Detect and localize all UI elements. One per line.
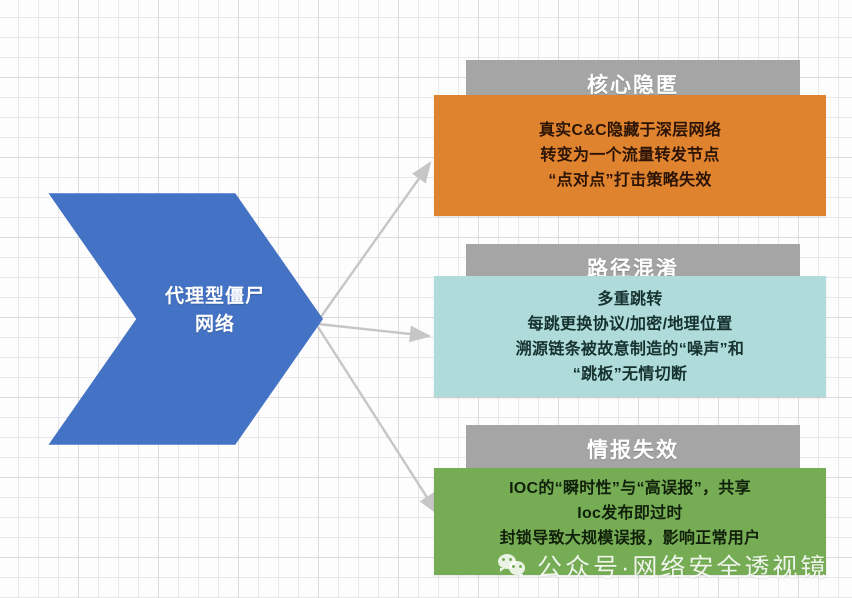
card-path-line-4: “跳板”无情切断 [573,362,687,387]
card-core-line-2: 转变为一个流量转发节点 [540,143,719,168]
wechat-icon [498,553,528,579]
card-core-body: 真实C&C隐藏于深层网络 转变为一个流量转发节点 “点对点”打击策略失效 [434,95,826,216]
watermark-text: 公众号·网络安全透视镜 [537,548,828,584]
card-core-line-1: 真实C&C隐藏于深层网络 [539,118,721,143]
connector-to-core [318,163,430,321]
watermark: 公众号·网络安全透视镜 [498,548,828,584]
card-intel-header: 情报失效 [466,425,800,473]
wechat-bubble-front [509,561,525,575]
source-node-label: 代理型僵尸 网络 [135,283,295,339]
wechat-dot [519,565,522,568]
wechat-dot [509,558,512,561]
card-path-body: 多重跳转 每跳更换协议/加密/地理位置 溯源链条被故意制造的“噪声”和 “跳板”… [434,276,826,397]
wechat-dot [502,558,505,561]
source-node-label-line-2: 网络 [135,311,295,339]
card-intel-line-2: Ioc发布即过时 [577,501,683,526]
connector-to-intel [318,327,437,513]
card-path-line-2: 每跳更换协议/加密/地理位置 [527,312,732,337]
connector-to-path [318,324,429,336]
diagram-canvas: 代理型僵尸 网络 核心隐匿 真实C&C隐藏于深层网络 转变为一个流量转发节点 “… [0,0,852,598]
source-node-botnet[interactable]: 代理型僵尸 网络 [40,188,323,450]
card-core-line-3: “点对点”打击策略失效 [548,168,711,193]
card-intel-line-1: IOC的“瞬时性”与“高误报”，共享 [509,476,751,501]
source-node-label-line-1: 代理型僵尸 [135,283,295,311]
card-path-line-3: 溯源链条被故意制造的“噪声”和 [516,337,745,362]
card-path-line-1: 多重跳转 [597,287,662,312]
wechat-dot [512,565,515,568]
